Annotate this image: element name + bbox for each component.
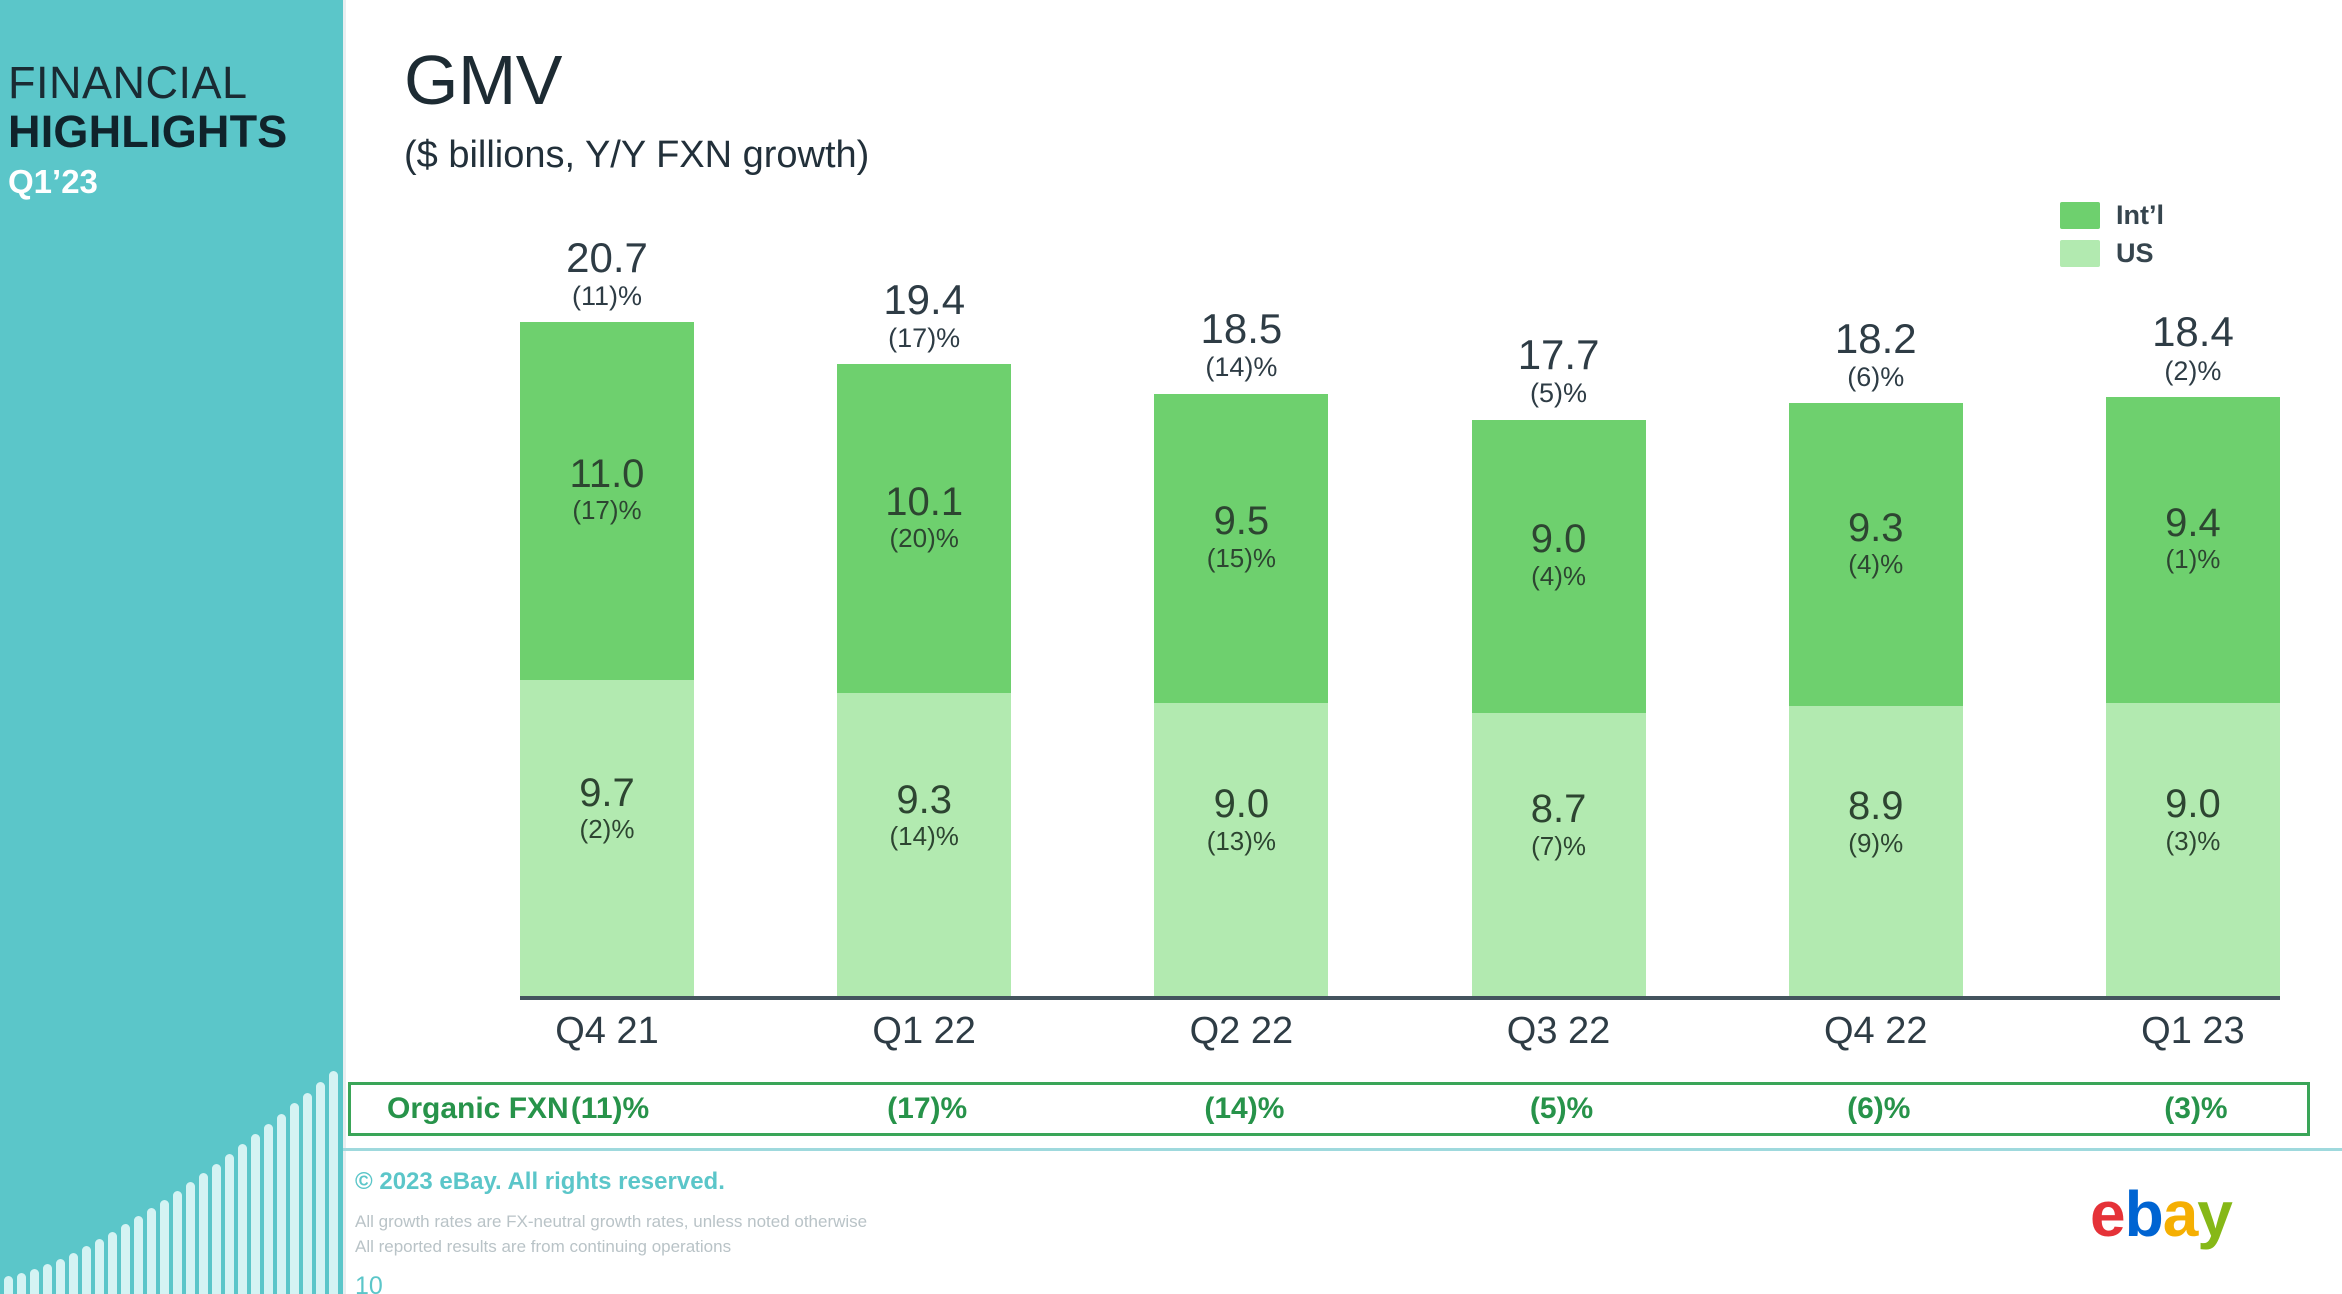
bar-segment-intl-label: 9.3(4)%: [1789, 507, 1963, 581]
x-axis-line: [520, 996, 2280, 1000]
slide-root: FINANCIAL HIGHLIGHTS Q1’23 GMV ($ billio…: [0, 0, 2342, 1294]
bar-total-growth: (2)%: [2152, 355, 2234, 387]
fan-bar: [199, 1173, 208, 1294]
sidebar-divider: [343, 0, 346, 1294]
fan-bar: [225, 1154, 234, 1294]
fan-bar: [4, 1276, 13, 1294]
fan-bar: [160, 1200, 169, 1294]
bar-total-growth: (6)%: [1835, 361, 1917, 393]
bar-segment-intl-value: 9.3: [1789, 507, 1963, 549]
bar-column: 17.7(5)%9.0(4)%8.7(7)%: [1472, 230, 1646, 996]
legend-swatch-intl: [2060, 202, 2100, 229]
organic-fxn-value: (5)%: [1475, 1092, 1649, 1126]
bar-total-growth: (17)%: [883, 322, 965, 354]
bar-column: 20.7(11)%11.0(17)%9.7(2)%: [520, 230, 694, 996]
fan-bar: [212, 1164, 221, 1294]
x-axis-category-labels: Q4 21Q1 22Q2 22Q3 22Q4 22Q1 23: [520, 1010, 2280, 1053]
page-subtitle: ($ billions, Y/Y FXN growth): [404, 134, 869, 177]
bar-segment-us-label: 9.3(14)%: [837, 779, 1011, 853]
bar-segment-us-value: 9.0: [2106, 783, 2280, 825]
bar-segment-intl-value: 9.4: [2106, 502, 2280, 544]
bar-total-label: 18.2(6)%: [1835, 317, 1917, 393]
sidebar-line-highlights: HIGHLIGHTS: [8, 105, 343, 158]
sidebar: FINANCIAL HIGHLIGHTS Q1’23: [0, 0, 343, 1294]
bar-segment-intl: 9.0(4)%: [1472, 420, 1646, 713]
page-title: GMV: [404, 40, 562, 120]
bar-segment-us-growth: (14)%: [837, 821, 1011, 852]
bar-segment-us-value: 8.9: [1789, 785, 1963, 827]
bar-segment-us-label: 8.7(7)%: [1472, 788, 1646, 862]
fan-bar: [316, 1082, 325, 1294]
fan-bar: [82, 1246, 91, 1294]
x-axis-label: Q1 22: [837, 1010, 1011, 1053]
bar-segment-intl: 11.0(17)%: [520, 322, 694, 680]
fan-bar: [186, 1182, 195, 1294]
x-axis-label: Q1 23: [2106, 1010, 2280, 1053]
fan-bar: [95, 1239, 104, 1294]
fan-bar: [173, 1191, 182, 1294]
bar-segment-intl-label: 9.4(1)%: [2106, 502, 2280, 576]
bar-segment-us-label: 9.7(2)%: [520, 772, 694, 846]
fan-bar: [238, 1144, 247, 1294]
decorative-fan: [0, 1054, 343, 1294]
bar-segment-us-label: 8.9(9)%: [1789, 785, 1963, 859]
x-axis-label: Q3 22: [1472, 1010, 1646, 1053]
legend-item-intl: Int’l: [2060, 196, 2164, 234]
footer-divider: [343, 1148, 2342, 1151]
organic-fxn-values: (11)%(17)%(14)%(5)%(6)%(3)%: [523, 1085, 2283, 1133]
fan-bar: [264, 1124, 273, 1294]
fan-bar: [43, 1264, 52, 1294]
fan-bar: [134, 1216, 143, 1294]
bar-segment-us: 9.3(14)%: [837, 693, 1011, 996]
bar-segment-intl-value: 9.0: [1472, 518, 1646, 560]
bar-column: 18.2(6)%9.3(4)%8.9(9)%: [1789, 230, 1963, 996]
bar-segment-us-value: 9.7: [520, 772, 694, 814]
bar-chart-plot: 20.7(11)%11.0(17)%9.7(2)%19.4(17)%10.1(2…: [520, 230, 2280, 996]
ebay-logo: ebay: [2090, 1182, 2232, 1246]
bar-segment-us-label: 9.0(13)%: [1154, 783, 1328, 857]
bar-segment-intl-value: 10.1: [837, 481, 1011, 523]
bar-segment-intl: 10.1(20)%: [837, 364, 1011, 693]
sidebar-line-financial: FINANCIAL: [8, 60, 343, 105]
organic-fxn-row: Organic FXN (11)%(17)%(14)%(5)%(6)%(3)%: [348, 1082, 2310, 1136]
bar-segment-us: 9.7(2)%: [520, 680, 694, 996]
x-axis-label: Q2 22: [1154, 1010, 1328, 1053]
bar-segment-intl-label: 9.0(4)%: [1472, 518, 1646, 592]
bar-segment-us-growth: (13)%: [1154, 826, 1328, 857]
bar-segment-us-growth: (9)%: [1789, 828, 1963, 859]
bar-segment-us-growth: (3)%: [2106, 826, 2280, 857]
bar-segment-us-value: 9.0: [1154, 783, 1328, 825]
bar-segment-intl-value: 9.5: [1154, 500, 1328, 542]
bar-segment-us: 8.9(9)%: [1789, 706, 1963, 996]
copyright-text: © 2023 eBay. All rights reserved.: [355, 1168, 725, 1196]
ebay-logo-letter-y: y: [2197, 1178, 2232, 1250]
bar-column: 19.4(17)%10.1(20)%9.3(14)%: [837, 230, 1011, 996]
x-axis-label: Q4 21: [520, 1010, 694, 1053]
bar-total-growth: (5)%: [1518, 377, 1600, 409]
ebay-logo-letter-b: b: [2125, 1178, 2163, 1250]
organic-fxn-value: (3)%: [2109, 1092, 2283, 1126]
bar-segment-intl: 9.4(1)%: [2106, 397, 2280, 703]
fan-bar: [303, 1093, 312, 1294]
bar-total-growth: (14)%: [1201, 351, 1283, 383]
bar-segment-intl-growth: (15)%: [1154, 543, 1328, 574]
legend-label-intl: Int’l: [2116, 200, 2164, 231]
sidebar-heading-block: FINANCIAL HIGHLIGHTS Q1’23: [8, 60, 343, 206]
organic-fxn-value: (14)%: [1157, 1092, 1331, 1126]
fan-bar: [290, 1103, 299, 1294]
bar-total-value: 20.7: [566, 236, 648, 280]
bar-total-value: 17.7: [1518, 333, 1600, 377]
bar-column: 18.5(14)%9.5(15)%9.0(13)%: [1154, 230, 1328, 996]
bar-total-value: 19.4: [883, 278, 965, 322]
bar-total-label: 17.7(5)%: [1518, 333, 1600, 409]
bar-segment-us: 8.7(7)%: [1472, 713, 1646, 996]
bar-segment-intl: 9.3(4)%: [1789, 403, 1963, 706]
bar-segment-us-label: 9.0(3)%: [2106, 783, 2280, 857]
bar-segment-intl-label: 9.5(15)%: [1154, 500, 1328, 574]
fan-bar: [121, 1224, 130, 1294]
bar-segment-intl-growth: (1)%: [2106, 544, 2280, 575]
fan-bar: [69, 1253, 78, 1294]
bar-segment-intl-growth: (4)%: [1789, 549, 1963, 580]
x-axis-label: Q4 22: [1789, 1010, 1963, 1053]
bar-segment-intl-growth: (20)%: [837, 523, 1011, 554]
bar-total-label: 18.4(2)%: [2152, 310, 2234, 386]
bar-total-label: 19.4(17)%: [883, 278, 965, 354]
disclaimer-line-2: All reported results are from continuing…: [355, 1235, 867, 1260]
bar-total-growth: (11)%: [566, 280, 648, 312]
bar-total-value: 18.4: [2152, 310, 2234, 354]
bar-segment-intl-growth: (17)%: [520, 495, 694, 526]
fan-bar: [329, 1071, 338, 1294]
fan-bar: [277, 1114, 286, 1294]
bar-segment-intl-label: 11.0(17)%: [520, 453, 694, 527]
sidebar-line-quarter: Q1’23: [8, 158, 343, 206]
bar-column: 18.4(2)%9.4(1)%9.0(3)%: [2106, 230, 2280, 996]
fan-bar: [17, 1273, 26, 1294]
bar-segment-us: 9.0(13)%: [1154, 703, 1328, 996]
bar-segment-us: 9.0(3)%: [2106, 703, 2280, 996]
bar-segment-us-growth: (7)%: [1472, 831, 1646, 862]
organic-fxn-value: (11)%: [523, 1092, 697, 1126]
organic-fxn-value: (17)%: [840, 1092, 1014, 1126]
ebay-logo-letter-e: e: [2090, 1178, 2125, 1250]
bar-segment-us-growth: (2)%: [520, 814, 694, 845]
fan-bar: [30, 1269, 39, 1294]
bar-segment-intl-value: 11.0: [520, 453, 694, 495]
fan-bar: [108, 1232, 117, 1294]
fan-bar: [147, 1208, 156, 1294]
fan-bar: [251, 1134, 260, 1294]
bar-segment-intl: 9.5(15)%: [1154, 394, 1328, 703]
bar-segment-intl-growth: (4)%: [1472, 561, 1646, 592]
bar-total-label: 18.5(14)%: [1201, 307, 1283, 383]
bar-segment-us-value: 9.3: [837, 779, 1011, 821]
bar-total-value: 18.2: [1835, 317, 1917, 361]
organic-fxn-value: (6)%: [1792, 1092, 1966, 1126]
disclaimer-line-1: All growth rates are FX-neutral growth r…: [355, 1210, 867, 1235]
bar-total-label: 20.7(11)%: [566, 236, 648, 312]
bar-total-value: 18.5: [1201, 307, 1283, 351]
page-number: 10: [355, 1272, 383, 1294]
ebay-logo-letter-a: a: [2163, 1178, 2198, 1250]
bar-segment-us-value: 8.7: [1472, 788, 1646, 830]
bar-segment-intl-label: 10.1(20)%: [837, 481, 1011, 555]
fan-bar: [56, 1259, 65, 1294]
disclaimer-text: All growth rates are FX-neutral growth r…: [355, 1210, 867, 1259]
